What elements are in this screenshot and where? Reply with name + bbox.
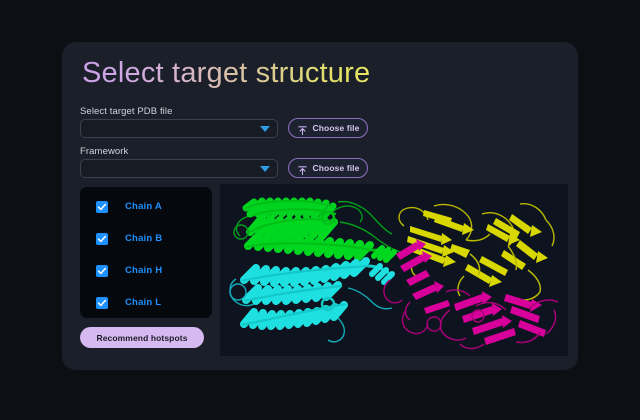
upload-icon: [297, 123, 308, 134]
target-structure-card: Select target structure Select target PD…: [62, 42, 578, 370]
upload-icon: [297, 163, 308, 174]
chain-label: Chain B: [125, 233, 162, 244]
choose-file-button-framework[interactable]: Choose file: [288, 158, 368, 178]
protein-structure-viewer[interactable]: [220, 184, 568, 356]
recommend-hotspots-button[interactable]: Recommend hotspots: [80, 327, 204, 348]
pdb-file-select[interactable]: [80, 119, 278, 138]
chevron-down-icon[interactable]: [260, 126, 270, 132]
choose-file-button-pdb[interactable]: Choose file: [288, 118, 368, 138]
protein-cartoon-render: [220, 184, 568, 356]
list-item[interactable]: Chain A: [84, 191, 208, 222]
checkbox-icon[interactable]: [96, 201, 108, 213]
checkbox-icon[interactable]: [96, 265, 108, 277]
checkbox-icon[interactable]: [96, 297, 108, 309]
checkbox-icon[interactable]: [96, 233, 108, 245]
recommend-hotspots-button-label: Recommend hotspots: [96, 333, 187, 343]
choose-file-button-framework-label: Choose file: [313, 163, 360, 173]
framework-label: Framework: [80, 146, 128, 157]
app-root: Select target structure Select target PD…: [0, 0, 640, 420]
chain-label: Chain A: [125, 201, 162, 212]
page-title: Select target structure: [82, 59, 370, 88]
chain-list: Chain A Chain B Chain H: [80, 187, 212, 318]
chain-label: Chain H: [125, 265, 162, 276]
list-item[interactable]: Chain H: [84, 255, 208, 286]
list-item[interactable]: Chain L: [84, 287, 208, 318]
list-item[interactable]: Chain B: [84, 223, 208, 254]
chain-label: Chain L: [125, 297, 161, 308]
pdb-file-label: Select target PDB file: [80, 106, 173, 117]
choose-file-button-pdb-label: Choose file: [313, 123, 360, 133]
framework-select[interactable]: [80, 159, 278, 178]
chevron-down-icon[interactable]: [260, 166, 270, 172]
